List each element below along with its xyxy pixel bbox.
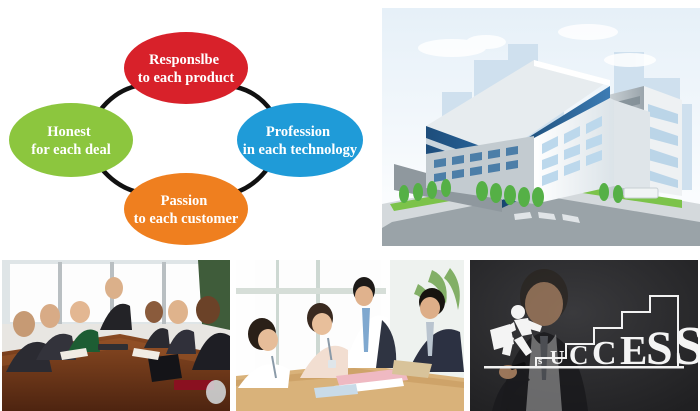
svg-text:S: S <box>674 315 698 376</box>
honest-ellipse <box>9 103 133 177</box>
responsible-ellipse <box>124 32 248 104</box>
photo-success-staircase: s U C C E S S <box>470 260 698 411</box>
photo-boardroom-meeting <box>2 260 230 411</box>
profession-ellipse <box>237 103 363 177</box>
passion-ellipse <box>124 173 248 245</box>
diagram-node-passion: Passion to each customer <box>124 173 248 245</box>
marketing-collage: Responslbe to each product Profession in… <box>0 0 700 411</box>
core-values-diagram: Responslbe to each product Profession in… <box>0 0 380 248</box>
photo-office-team-discussion <box>236 260 464 411</box>
svg-text:E: E <box>620 327 647 373</box>
svg-text:C: C <box>592 335 617 372</box>
diagram-node-responsible: Responslbe to each product <box>124 32 248 104</box>
photo-strip: s U C C E S S <box>0 260 700 411</box>
svg-text:U: U <box>550 347 564 369</box>
diagram-node-honest: Honest for each deal <box>9 103 133 177</box>
office-building-illustration <box>382 8 700 246</box>
connector-responsible-profession <box>236 87 272 112</box>
svg-text:C: C <box>569 340 589 370</box>
svg-text:S: S <box>646 322 673 375</box>
entrance-canopy <box>624 188 658 198</box>
svg-text:s: s <box>538 355 543 367</box>
diagram-node-profession: Profession in each technology <box>237 103 363 177</box>
